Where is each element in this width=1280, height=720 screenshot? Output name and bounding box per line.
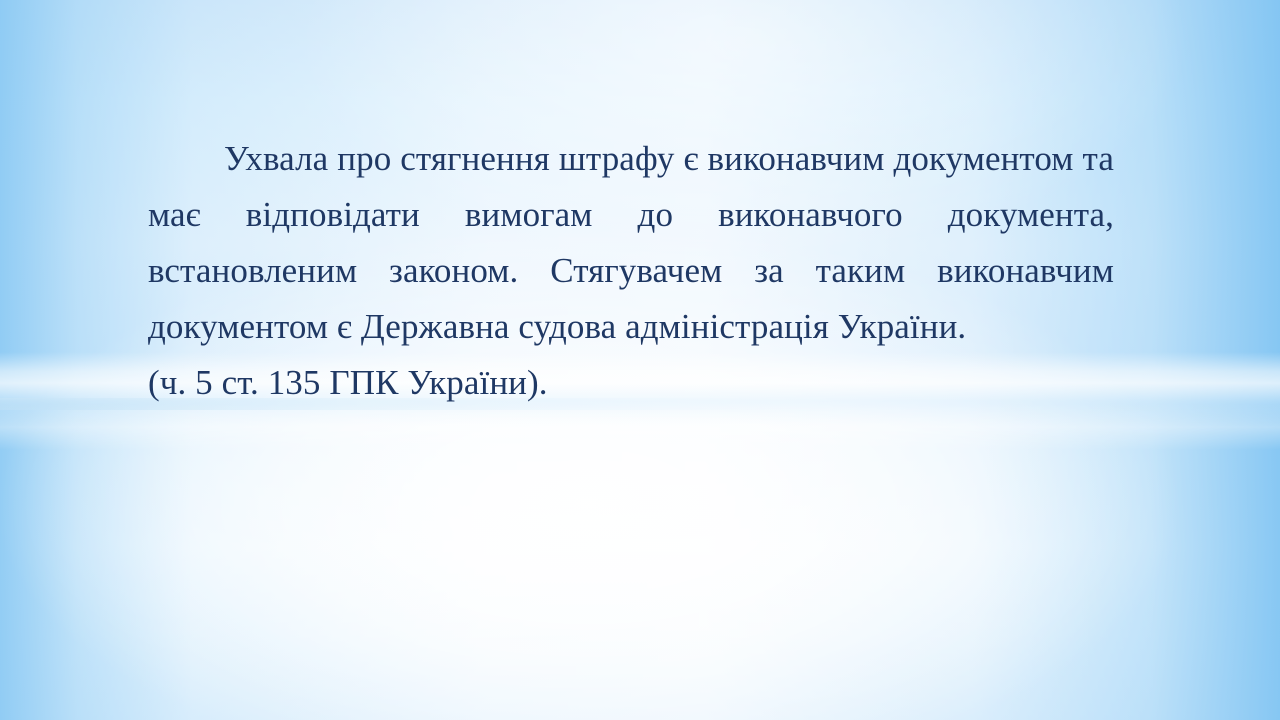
slide-canvas: Ухвала про стягнення штрафу є виконавчим…	[0, 0, 1280, 720]
legal-citation: (ч. 5 ст. 135 ГПК України).	[148, 355, 1114, 411]
body-paragraph: Ухвала про стягнення штрафу є виконавчим…	[148, 131, 1114, 355]
slide-content: Ухвала про стягнення штрафу є виконавчим…	[148, 131, 1114, 411]
